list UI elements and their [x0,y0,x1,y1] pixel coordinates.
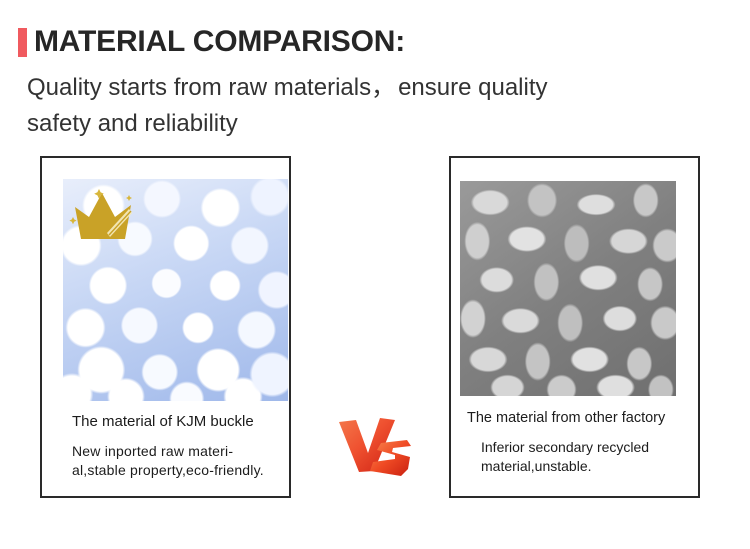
subtitle-line1-part2: ensure quality [398,74,547,101]
page-subtitle: Quality starts from raw materials，ensure… [27,70,687,142]
material-photo-good [63,179,288,401]
page-title-row: MATERIAL COMPARISON: [18,27,405,57]
caption-desc-other-line1: Inferior secondary recycled [481,439,649,455]
caption-title-good: The material of KJM buckle [72,412,275,432]
caption-good: The material of KJM buckle New inported … [42,412,289,480]
caption-desc-good-line1: New inported raw materi- [72,443,233,459]
caption-title-other: The material from other factory [467,408,688,428]
material-photo-other [460,181,676,396]
page-title: MATERIAL COMPARISON: [34,27,405,57]
comparison-section: The material of KJM buckle New inported … [0,156,750,501]
vs-badge: VS [337,414,413,482]
white-pellets-image [63,179,288,401]
caption-desc-good: New inported raw materi- al,stable prope… [72,442,275,480]
subtitle-line2: safety and reliability [27,110,238,137]
caption-desc-good-line2: al,stable property,eco-friendly. [72,462,264,478]
grey-pellets-image [460,181,676,396]
caption-desc-other: Inferior secondary recycled material,uns… [481,438,688,476]
comparison-card-good: The material of KJM buckle New inported … [40,156,291,498]
accent-bar [18,28,27,57]
subtitle-separator: ， [371,74,398,101]
comparison-card-other: The material from other factory Inferior… [449,156,700,498]
subtitle-line1-part1: Quality starts from raw materials [27,74,371,101]
caption-other: The material from other factory Inferior… [451,408,698,476]
caption-desc-other-line2: material,unstable. [481,458,592,474]
